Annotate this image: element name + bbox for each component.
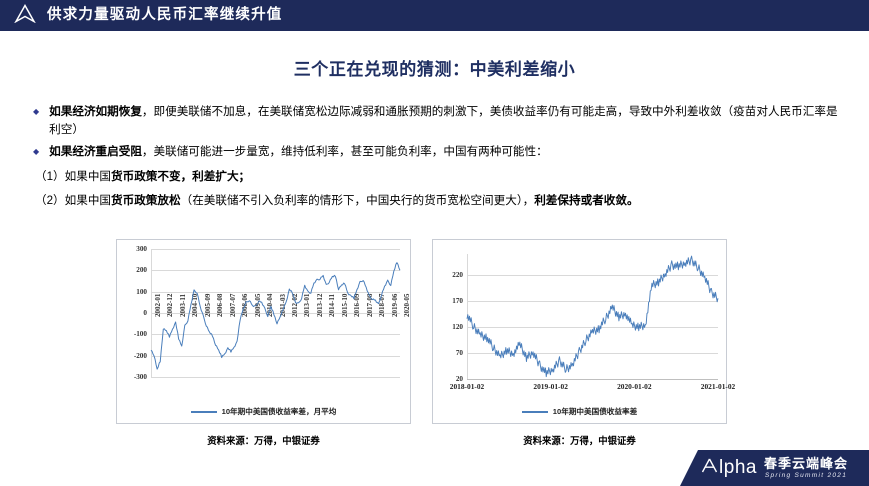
header-title: 供求力量驱动人民币汇率继续升值 xyxy=(47,8,283,23)
paragraph-2-run-0: 如果经济重启受阻 xyxy=(49,145,142,158)
paragraph-4-run-3: 利差保持或者收敛。 xyxy=(534,194,638,207)
series-line xyxy=(151,263,400,369)
chart-left-china-us-spread-monthly: 3002001000-100-200-3002002-012002-122003… xyxy=(116,239,411,424)
chart-right-china-us-spread-daily: 22017012070202018-01-022019-01-022020-01… xyxy=(432,239,727,424)
paragraph-3-run-0: （1）如果中国 xyxy=(35,170,111,183)
chart-left-legend: 10年期中美国债收益率差，月平均 xyxy=(117,406,410,417)
paragraph-2-text: 如果经济重启受阻，美联储可能进一步量宽，维持低利率，甚至可能负利率，中国有两种可… xyxy=(49,143,845,161)
paragraph-3-text: （1）如果中国货币政策不变，利差扩大； xyxy=(35,168,845,186)
body-text-block: ◆ 如果经济如期恢复，即便美联储不加息，在美联储宽松边际减弱和通胀预期的刺激下，… xyxy=(33,103,845,214)
paragraph-4-run-0: （2）如果中国 xyxy=(35,194,111,207)
numbered-paragraph-2: （2）如果中国货币政策放松（在美联储不引入负利率的情形下，中国央行的货币宽松空间… xyxy=(33,192,845,210)
triangle-outline-icon xyxy=(14,4,36,28)
chart-right-legend-label: 10年期中美国债收益率差 xyxy=(553,406,637,417)
slide-header-bar: 供求力量驱动人民币汇率继续升值 xyxy=(0,0,869,31)
chart-right-legend: 10年期中美国债收益率差 xyxy=(433,406,726,417)
legend-line-swatch xyxy=(522,411,548,413)
series-line xyxy=(467,256,718,377)
paragraph-4-run-2: （在美联储不引入负利率的情形下，中国央行的货币宽松空间更大）， xyxy=(181,194,535,207)
paragraph-2-run-1: ，美联储可能进一步量宽，维持低利率，甚至可能负利率，中国有两种可能性： xyxy=(142,145,548,158)
bullet-diamond-icon: ◆ xyxy=(33,144,39,159)
paragraph-4-text: （2）如果中国货币政策放松（在美联储不引入负利率的情形下，中国央行的货币宽松空间… xyxy=(35,192,845,210)
paragraph-3-run-1: 货币政策不变，利差扩大； xyxy=(111,170,250,183)
paragraph-4-run-1: 货币政策放松 xyxy=(111,194,181,207)
footer-brand-text: lpha xyxy=(719,457,757,479)
chart-right-plot-area: 22017012070202018-01-022019-01-022020-01… xyxy=(433,240,726,423)
bullet-paragraph-1: ◆ 如果经济如期恢复，即便美联储不加息，在美联储宽松边际减弱和通胀预期的刺激下，… xyxy=(33,103,845,138)
paragraph-1-run-1: ，即便美联储不加息，在美联储宽松边际减弱和通胀预期的刺激下，美债收益率仍有可能走… xyxy=(49,105,837,136)
footer-brand-cn-wrap: 春季云端峰会 Spring Summit 2021 xyxy=(764,457,848,480)
bullet-diamond-icon: ◆ xyxy=(33,104,39,119)
series-line-layer xyxy=(433,240,726,423)
footer-brand-logo: lpha 春季云端峰会 Spring Summit 2021 xyxy=(680,450,869,486)
footer-brand-alpha: lpha xyxy=(701,457,757,480)
chart-right-source-note: 资料来源：万得，中银证券 xyxy=(432,433,727,447)
bullet-paragraph-2: ◆ 如果经济重启受阻，美联储可能进一步量宽，维持低利率，甚至可能负利率，中国有两… xyxy=(33,143,845,161)
paragraph-1-text: 如果经济如期恢复，即便美联储不加息，在美联储宽松边际减弱和通胀预期的刺激下，美债… xyxy=(49,103,845,138)
footer-brand-en: Spring Summit 2021 xyxy=(764,473,848,480)
paragraph-1-run-0: 如果经济如期恢复 xyxy=(49,105,142,118)
chart-left-source-note: 资料来源：万得，中银证券 xyxy=(116,433,411,447)
charts-row: 3002001000-100-200-3002002-012002-122003… xyxy=(116,239,746,464)
footer-brand-cn: 春季云端峰会 xyxy=(764,457,848,470)
chart-left-plot-area: 3002001000-100-200-3002002-012002-122003… xyxy=(117,240,410,423)
series-line-layer xyxy=(117,240,410,423)
alpha-triangle-icon xyxy=(701,457,718,480)
page-title: 三个正在兑现的猜测：中美利差缩小 xyxy=(0,55,869,80)
numbered-paragraph-1: （1）如果中国货币政策不变，利差扩大； xyxy=(33,168,845,186)
chart-left-legend-label: 10年期中美国债收益率差，月平均 xyxy=(222,406,337,417)
legend-line-swatch xyxy=(191,411,217,413)
